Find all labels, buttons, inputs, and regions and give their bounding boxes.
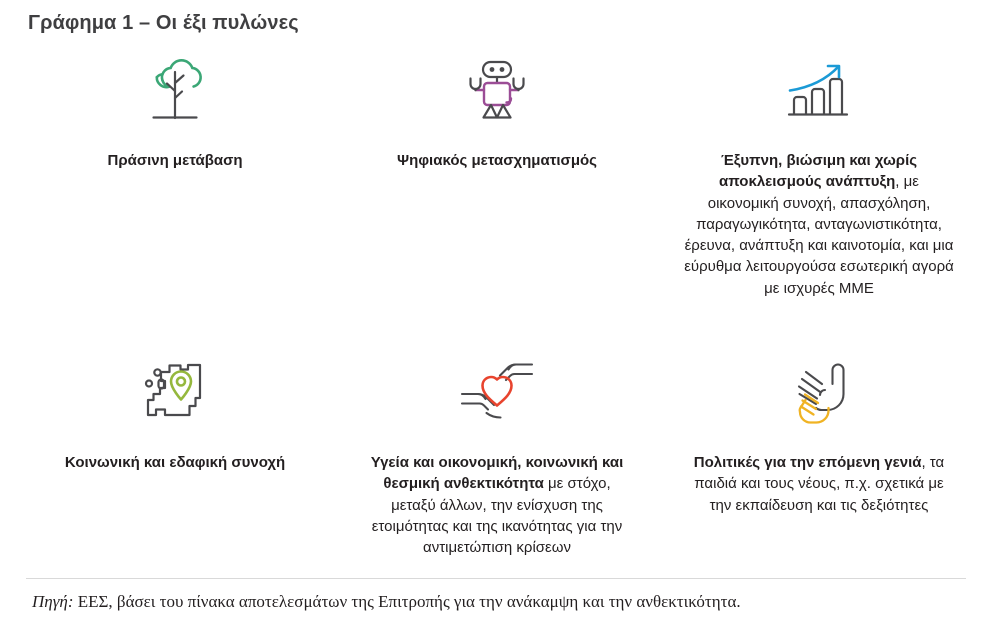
source-note: Πηγή: ΕΕΣ, βάσει του πίνακα αποτελεσμάτω…	[32, 592, 741, 612]
pillar-label-social-cohesion: Κοινωνική και εδαφική συνοχή	[65, 452, 285, 473]
pillar-bold-next-generation: Πολιτικές για την επόμενη γενιά	[694, 454, 922, 471]
footer-divider	[26, 578, 966, 579]
pillars-grid: Πράσινη μετάβαση	[14, 50, 980, 580]
map-pin-icon	[132, 350, 218, 436]
pillar-label-smart-growth: Έξυπνη, βιώσιμη και χωρίς αποκλεισμούς α…	[683, 150, 955, 299]
pillar-social-cohesion: Κοινωνική και εδαφική συνοχή	[14, 350, 336, 580]
pillar-green-transition: Πράσινη μετάβαση	[14, 50, 336, 350]
pillar-label-next-generation: Πολιτικές για την επόμενη γενιά, τα παιδ…	[683, 452, 955, 516]
pillar-health-resilience: Υγεία και οικονομική, κοινωνική και θεσμ…	[336, 350, 658, 580]
tree-icon	[132, 50, 218, 136]
pillar-next-generation: Πολιτικές για την επόμενη γενιά, τα παιδ…	[658, 350, 980, 580]
pillar-digital-transformation: Ψηφιακός μετασχηματισμός	[336, 50, 658, 350]
pillar-smart-growth: Έξυπνη, βιώσιμη και χωρίς αποκλεισμούς α…	[658, 50, 980, 350]
page-title: Γράφημα 1 – Οι έξι πυλώνες	[28, 12, 299, 35]
robot-icon	[454, 50, 540, 136]
hands-heart-icon	[454, 350, 540, 436]
source-text: ΕΕΣ, βάσει του πίνακα αποτελεσμάτων της …	[74, 592, 741, 611]
growth-chart-icon	[776, 50, 862, 136]
pillar-rest-smart-growth: , με οικονομική συνοχή, απασχόληση, παρα…	[684, 173, 954, 296]
hands-adult-child-icon	[776, 350, 862, 436]
pillar-label-green-transition: Πράσινη μετάβαση	[107, 150, 242, 171]
figure-container: Γράφημα 1 – Οι έξι πυλώνες	[0, 0, 994, 634]
source-label: Πηγή:	[32, 592, 74, 611]
pillar-label-digital-transformation: Ψηφιακός μετασχηματισμός	[397, 150, 597, 171]
pillar-bold-smart-growth: Έξυπνη, βιώσιμη και χωρίς αποκλεισμούς α…	[719, 152, 917, 190]
pillar-label-health-resilience: Υγεία και οικονομική, κοινωνική και θεσμ…	[361, 452, 633, 558]
